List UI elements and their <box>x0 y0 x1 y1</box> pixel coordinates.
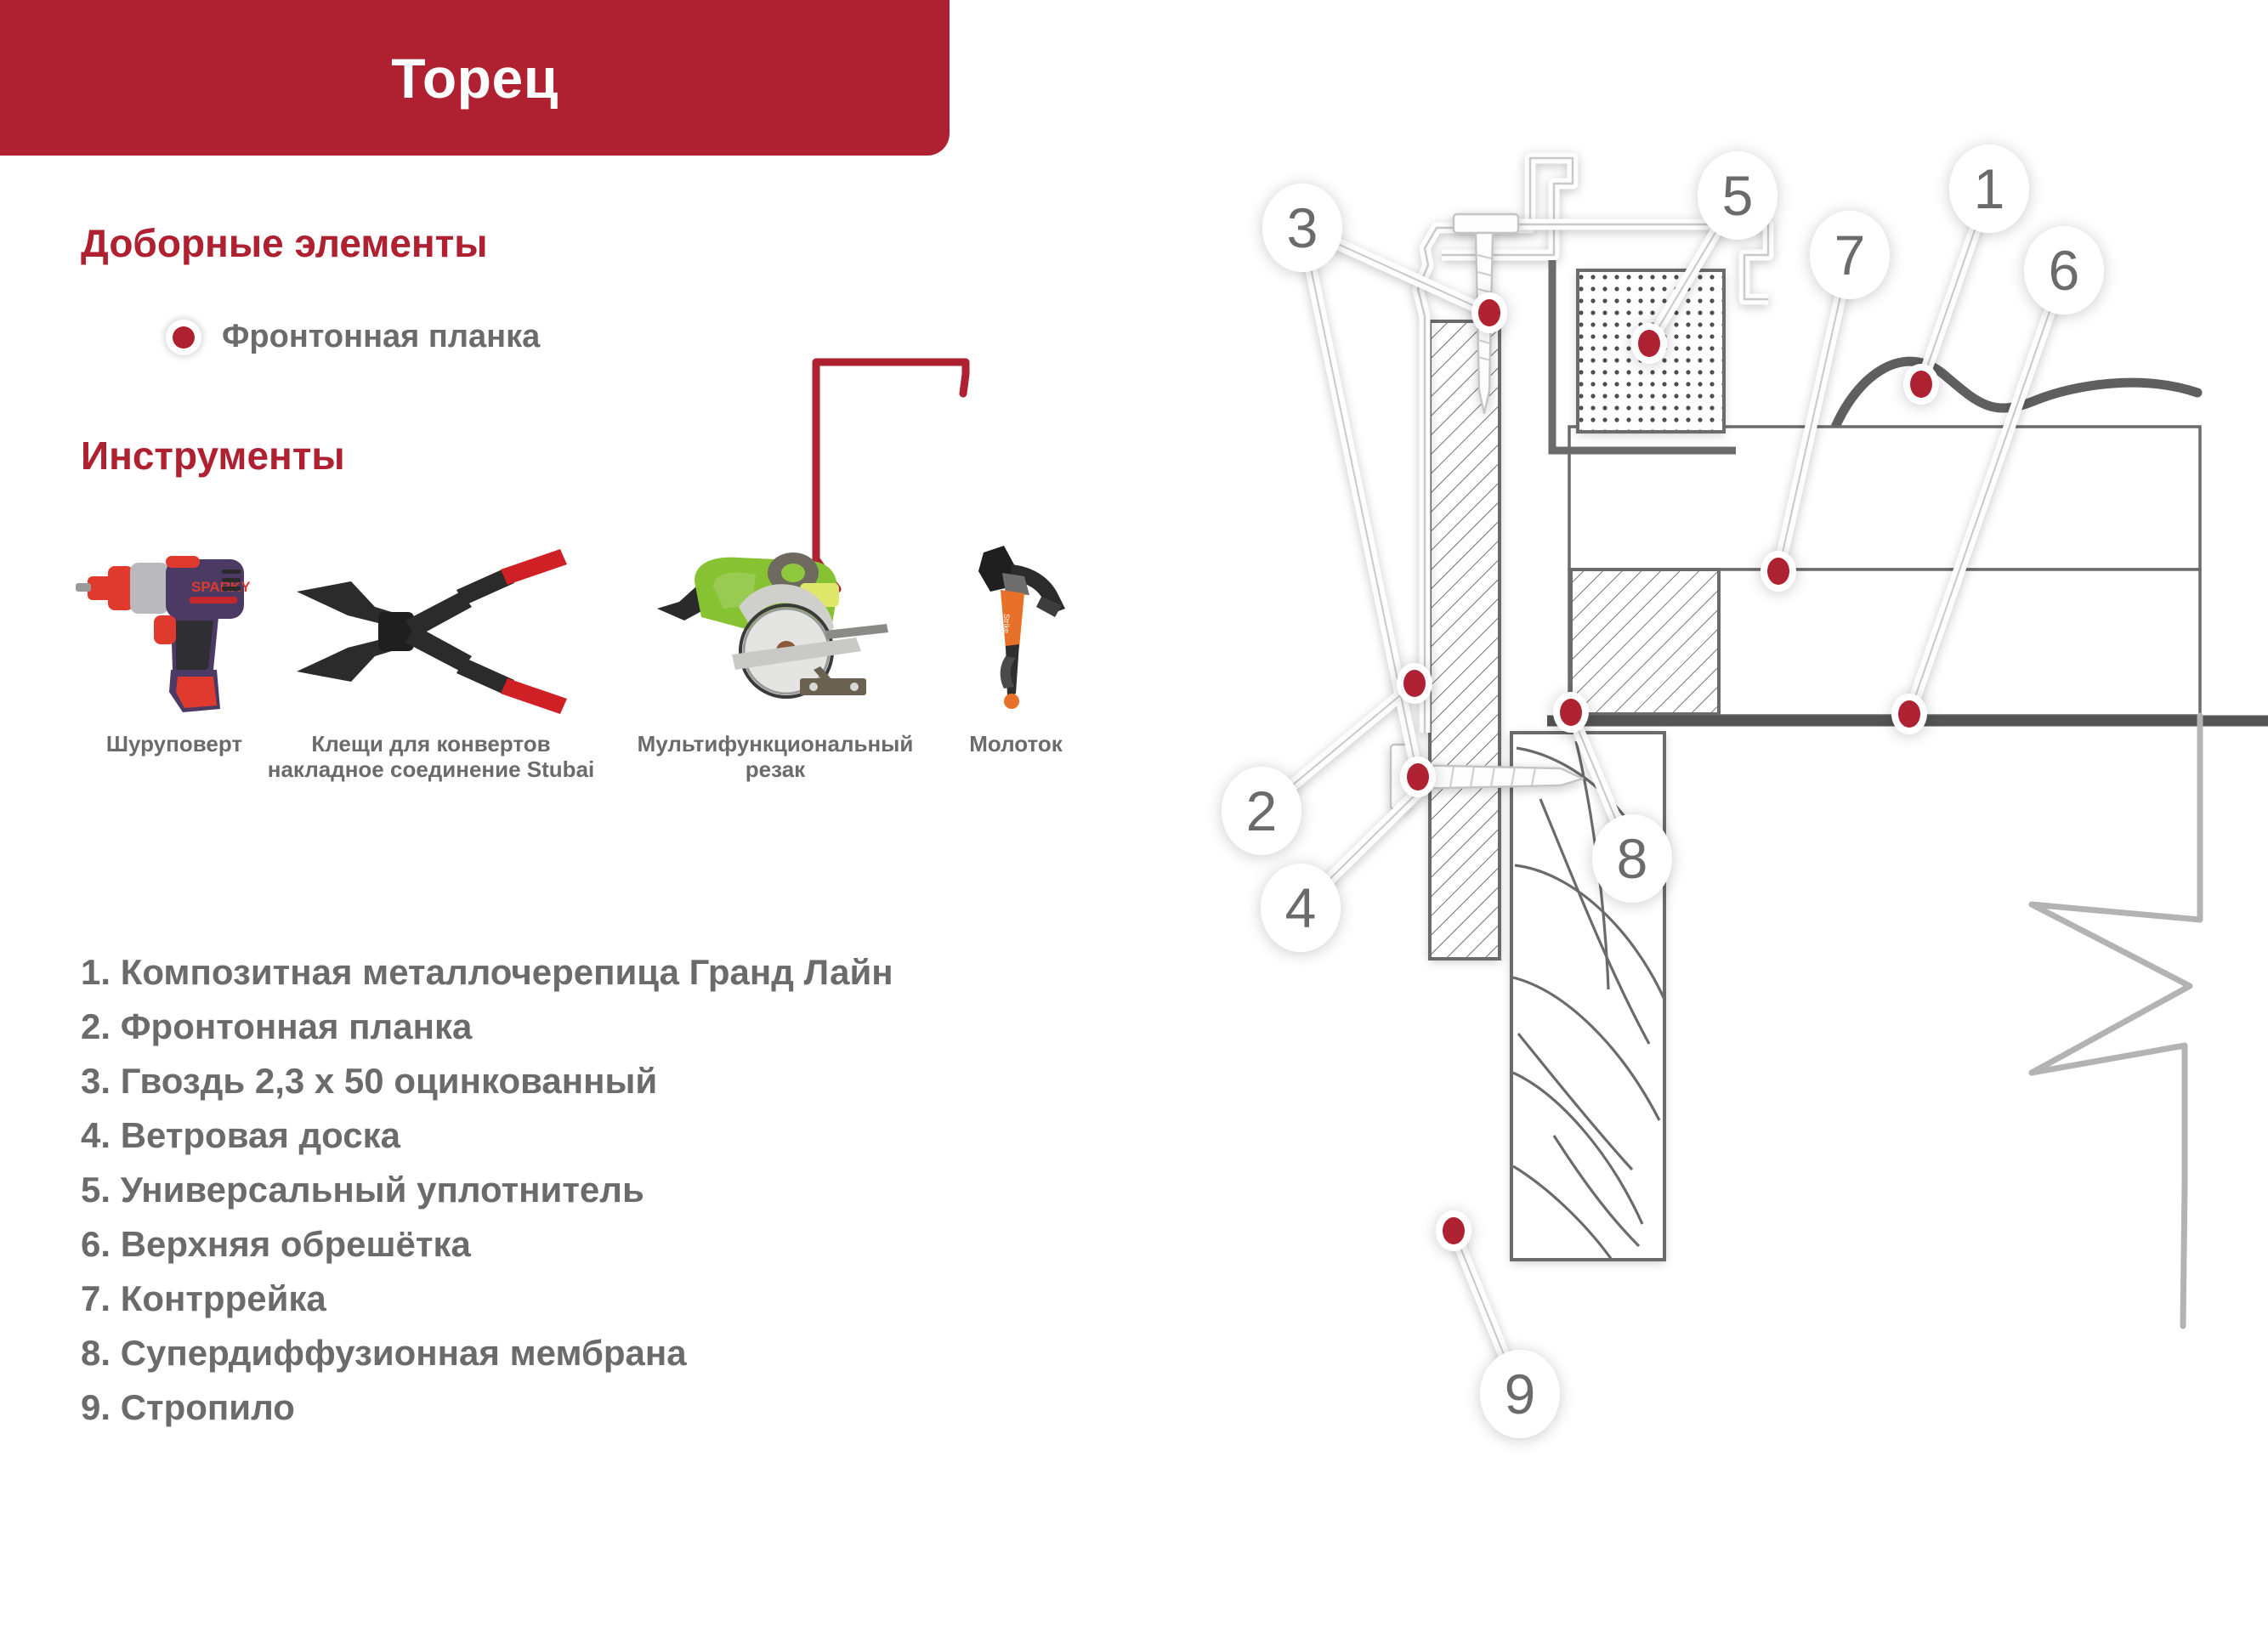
accessory-item-frontal-plank: Фронтонная планка <box>166 319 540 355</box>
tool-seaming-pliers <box>286 542 567 725</box>
accessory-label: Фронтонная планка <box>222 319 540 355</box>
header-banner: Торец <box>0 0 950 156</box>
legend-item-9: 9. Стропило <box>81 1390 1143 1425</box>
break-line <box>2032 716 2200 1326</box>
seaming-pliers-icon <box>286 542 567 725</box>
legend-item-3: 3. Гвоздь 2,3 х 50 оцинкованный <box>81 1063 1143 1099</box>
callout-2[interactable]: 2 <box>1222 767 1301 855</box>
callout-label-7: 7 <box>1834 224 1866 286</box>
legend-item-6: 6. Верхняя обрешётка <box>81 1227 1143 1262</box>
rafter <box>1511 733 1664 1260</box>
svg-text:Strike: Strike <box>1002 614 1011 633</box>
legend-item-8: 8. Супердиффузионная мембрана <box>81 1335 1143 1371</box>
callout-label-2: 2 <box>1246 779 1278 842</box>
callout-4[interactable]: 4 <box>1261 864 1341 952</box>
page-title: Торец <box>374 50 576 106</box>
legend-list: 1. Композитная металлочерепица Гранд Лай… <box>81 955 1143 1444</box>
tools-heading: Инструменты <box>81 436 345 475</box>
technical-drawing: 3 5 7 1 6 <box>1173 0 2268 1632</box>
legend-item-5: 5. Универсальный уплотнитель <box>81 1172 1143 1208</box>
poster-root: Торец Доборные элементы Фронтонная планк… <box>0 0 2268 1632</box>
counter-batten <box>1571 569 1719 714</box>
callout-3[interactable]: 3 <box>1262 184 1342 272</box>
tools-gallery: SPARKY Шуруповерт <box>64 542 1160 780</box>
tool-caption-3: Молоток <box>914 731 1118 756</box>
callout-label-1: 1 <box>1974 157 2005 220</box>
legend-item-2: 2. Фронтонная планка <box>81 1009 1143 1045</box>
callout-label-6: 6 <box>2049 239 2080 302</box>
callout-label-8: 8 <box>1617 827 1648 890</box>
svg-text:SPARKY: SPARKY <box>191 579 251 595</box>
tool-caption-2: Мультифункциональный резак <box>610 731 941 782</box>
bullet-dot-icon <box>166 320 201 355</box>
callout-5[interactable]: 5 <box>1698 151 1778 240</box>
wind-board <box>1430 321 1500 959</box>
tool-screwdriver-drill: SPARKY <box>64 542 285 725</box>
hammer-icon: Strike <box>953 542 1080 725</box>
callout-9[interactable]: 9 <box>1480 1350 1560 1438</box>
legend-item-1: 1. Композитная металлочерепица Гранд Лай… <box>81 955 1143 990</box>
screwdriver-drill-icon: SPARKY <box>64 542 285 725</box>
accessories-heading: Доборные элементы <box>81 224 488 263</box>
callout-label-4: 4 <box>1285 876 1317 939</box>
callout-label-5: 5 <box>1722 164 1754 227</box>
callout-label-3: 3 <box>1287 196 1318 259</box>
callout-8[interactable]: 8 <box>1592 814 1672 903</box>
tool-caption-1: Клещи для конвертов накладное соединение… <box>252 731 610 782</box>
callout-label-9: 9 <box>1505 1363 1536 1425</box>
left-panel: Доборные элементы Фронтонная планка Инст… <box>0 156 1182 1632</box>
callout-6[interactable]: 6 <box>2024 226 2104 314</box>
tool-circular-saw <box>650 542 897 725</box>
circular-saw-icon <box>650 542 897 725</box>
legend-item-7: 7. Контррейка <box>81 1281 1143 1317</box>
callout-1[interactable]: 1 <box>1949 144 2029 233</box>
tool-hammer: Strike <box>953 542 1080 725</box>
callout-7[interactable]: 7 <box>1810 211 1890 299</box>
legend-item-4: 4. Ветровая доска <box>81 1118 1143 1153</box>
